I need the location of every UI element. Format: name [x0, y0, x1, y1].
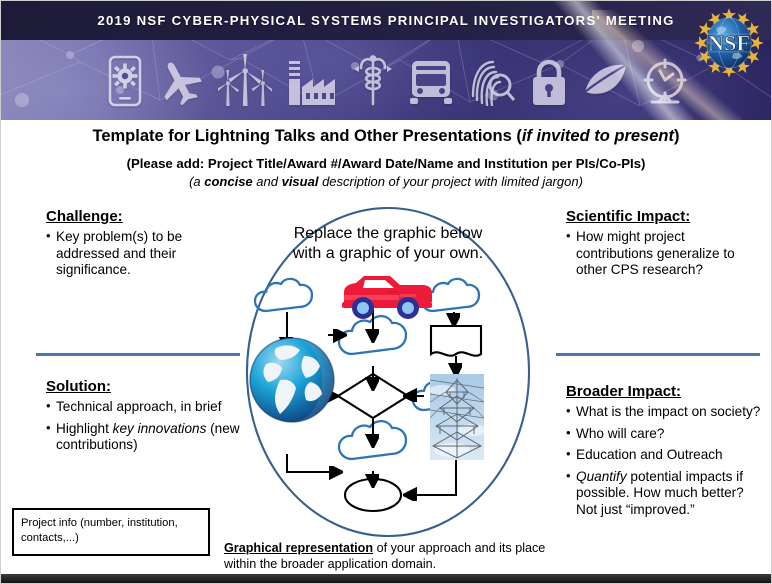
project-info-box: Project info (number, institution, conta… — [12, 508, 210, 556]
broader-impact-heading: Broader Impact: — [566, 383, 681, 400]
list-item: Who will care? — [566, 426, 762, 443]
challenge-bullet-list: Key problem(s) to be addressed and their… — [46, 229, 246, 279]
smartphone-gear-icon — [108, 55, 142, 107]
truck-image — [338, 272, 434, 320]
header-banner: 2019 NSF CYBER-PHYSICAL SYSTEMS PRINCIPA… — [0, 0, 772, 120]
graphic-caption: Graphical representation of your approac… — [224, 540, 564, 572]
solution-bullet-list: Technical approach, in brief Highlight k… — [46, 399, 246, 454]
banner-icon-strip — [108, 48, 688, 114]
banner-title: 2019 NSF CYBER-PHYSICAL SYSTEMS PRINCIPA… — [97, 13, 674, 28]
connector-tower-to-ellipse — [406, 460, 456, 495]
connector-globe-to-cloud-lower — [287, 454, 340, 472]
airplane-icon — [156, 57, 204, 105]
challenge-heading: Challenge: — [46, 208, 123, 225]
padlock-icon — [530, 56, 568, 106]
caption-underlined: Graphical representation — [224, 541, 373, 555]
slide-note: (a concise and visual description of you… — [0, 174, 772, 189]
list-item: Highlight key innovations (new contribut… — [46, 421, 246, 454]
power-tower-image — [430, 374, 484, 460]
list-item: Education and Outreach — [566, 447, 762, 464]
right-divider — [556, 353, 760, 356]
left-divider — [36, 353, 240, 356]
globe-image — [246, 334, 338, 426]
presentation-slide: 2019 NSF CYBER-PHYSICAL SYSTEMS PRINCIPA… — [0, 0, 772, 584]
leaf-icon — [582, 61, 628, 101]
broader-impact-bullet-list: What is the impact on society? Who will … — [566, 404, 762, 518]
slide-subtitle: (Please add: Project Title/Award #/Award… — [0, 156, 772, 171]
replace-graphic-instruction: Replace the graphic below with a graphic… — [228, 224, 548, 265]
solution-section: Solution: Technical approach, in brief H… — [46, 378, 246, 459]
list-item: How might project contributions generali… — [566, 229, 762, 279]
list-item: Quantify potential impacts if possible. … — [566, 469, 762, 519]
clock-gauge-icon — [642, 56, 688, 106]
broader-impact-section: Broader Impact: What is the impact on so… — [566, 383, 762, 523]
svg-text:NSF: NSF — [708, 30, 750, 55]
list-item: What is the impact on society? — [566, 404, 762, 421]
slide-title: Template for Lightning Talks and Other P… — [0, 126, 772, 147]
wind-turbine-icon — [218, 54, 272, 108]
project-info-text: Project info (number, institution, conta… — [21, 517, 178, 544]
caduceus-medical-icon — [351, 54, 395, 108]
replace-line-2: with a graphic of your own. — [228, 244, 548, 264]
factory-icon — [287, 57, 337, 105]
banner-title-bar: 2019 NSF CYBER-PHYSICAL SYSTEMS PRINCIPA… — [0, 0, 772, 40]
scientific-impact-heading: Scientific Impact: — [566, 208, 690, 225]
slide-title-block: Template for Lightning Talks and Other P… — [0, 126, 772, 189]
center-graphic: Replace the graphic below with a graphic… — [228, 206, 548, 578]
nsf-logo: NSF — [692, 6, 766, 80]
challenge-section: Challenge: Key problem(s) to be addresse… — [46, 208, 246, 284]
solution-heading: Solution: — [46, 378, 111, 395]
fingerprint-search-icon — [467, 56, 515, 106]
list-item: Technical approach, in brief — [46, 399, 246, 416]
replace-line-1: Replace the graphic below — [228, 224, 548, 244]
bus-icon — [409, 57, 453, 105]
scientific-impact-bullet-list: How might project contributions generali… — [566, 229, 762, 279]
cloud-top-left-icon — [255, 279, 312, 311]
bottom-bar — [0, 574, 772, 584]
document-shape — [431, 326, 481, 356]
list-item: Key problem(s) to be addressed and their… — [46, 229, 246, 279]
scientific-impact-section: Scientific Impact: How might project con… — [566, 208, 762, 284]
